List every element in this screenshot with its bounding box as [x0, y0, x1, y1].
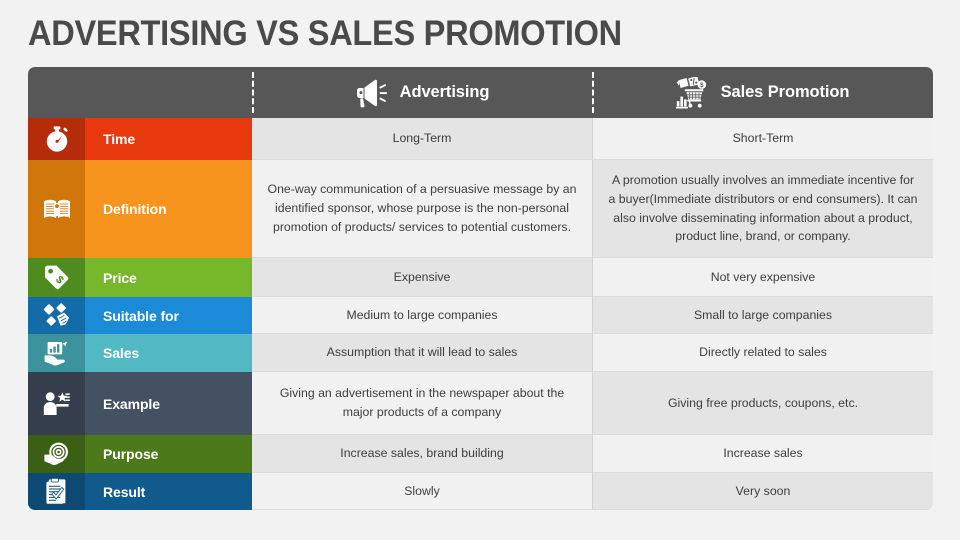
- cell-advertising: Long-Term: [252, 118, 592, 160]
- presenter-person-icon: [28, 372, 85, 435]
- row-label-purpose: Purpose: [85, 435, 252, 473]
- stopwatch-icon: [28, 118, 85, 160]
- cell-sales-promotion: Very soon: [592, 473, 933, 510]
- growth-chart-hand-icon: [28, 334, 85, 372]
- table-header-row: Advertising: [28, 67, 933, 118]
- clipboard-checklist-icon: [28, 473, 85, 510]
- header-label-advertising: Advertising: [400, 83, 490, 102]
- target-hand-icon: [28, 435, 85, 473]
- cell-advertising: Increase sales, brand building: [252, 435, 592, 473]
- cell-sales-promotion: Giving free products, coupons, etc.: [592, 372, 933, 435]
- table-row: SalesAssumption that it will lead to sal…: [28, 334, 933, 372]
- row-label-sales: Sales: [85, 334, 252, 372]
- header-spacer: [28, 67, 252, 118]
- row-label-example: Example: [85, 372, 252, 435]
- cell-sales-promotion: Increase sales: [592, 435, 933, 473]
- cell-advertising: Expensive: [252, 258, 592, 297]
- row-label-price: Price: [85, 258, 252, 297]
- cell-advertising: Slowly: [252, 473, 592, 510]
- row-label-result: Result: [85, 473, 252, 510]
- cell-advertising: Medium to large companies: [252, 297, 592, 334]
- comparison-table: Advertising: [28, 67, 933, 510]
- table-row: PurposeIncrease sales, brand buildingInc…: [28, 435, 933, 473]
- page-title: ADVERTISING VS SALES PROMOTION: [28, 14, 622, 54]
- cell-advertising: Giving an advertisement in the newspaper…: [252, 372, 592, 435]
- open-book-icon: [28, 160, 85, 258]
- price-tag-icon: $: [28, 258, 85, 297]
- shopping-cart-discount-icon: $: [676, 77, 710, 109]
- handshake-deal-icon: [28, 297, 85, 334]
- row-label-definition: Definition: [85, 160, 252, 258]
- cell-advertising: Assumption that it will lead to sales: [252, 334, 592, 372]
- header-divider-1: [252, 72, 254, 113]
- table-body: TimeLong-TermShort-Term DefinitionOne-wa…: [28, 118, 933, 510]
- table-row: Suitable forMedium to large companiesSma…: [28, 297, 933, 334]
- table-row: TimeLong-TermShort-Term: [28, 118, 933, 160]
- cell-sales-promotion: A promotion usually involves an immediat…: [592, 160, 933, 258]
- cell-sales-promotion: Directly related to sales: [592, 334, 933, 372]
- cell-sales-promotion: Not very expensive: [592, 258, 933, 297]
- cell-sales-promotion: Small to large companies: [592, 297, 933, 334]
- header-column-advertising: Advertising: [252, 67, 592, 118]
- megaphone-icon: [355, 78, 389, 108]
- header-divider-2: [592, 72, 594, 113]
- header-column-sales-promotion: $: [592, 67, 933, 118]
- row-label-time: Time: [85, 118, 252, 160]
- table-row: DefinitionOne-way communication of a per…: [28, 160, 933, 258]
- row-label-suitable-for: Suitable for: [85, 297, 252, 334]
- cell-advertising: One-way communication of a persuasive me…: [252, 160, 592, 258]
- slide-canvas: ADVERTISING VS SALES PROMOTION: [0, 0, 960, 540]
- table-row: $ PriceExpensiveNot very expensive: [28, 258, 933, 297]
- cell-sales-promotion: Short-Term: [592, 118, 933, 160]
- header-label-sales-promotion: Sales Promotion: [721, 83, 850, 102]
- table-row: ResultSlowlyVery soon: [28, 473, 933, 510]
- table-row: ExampleGiving an advertisement in the ne…: [28, 372, 933, 435]
